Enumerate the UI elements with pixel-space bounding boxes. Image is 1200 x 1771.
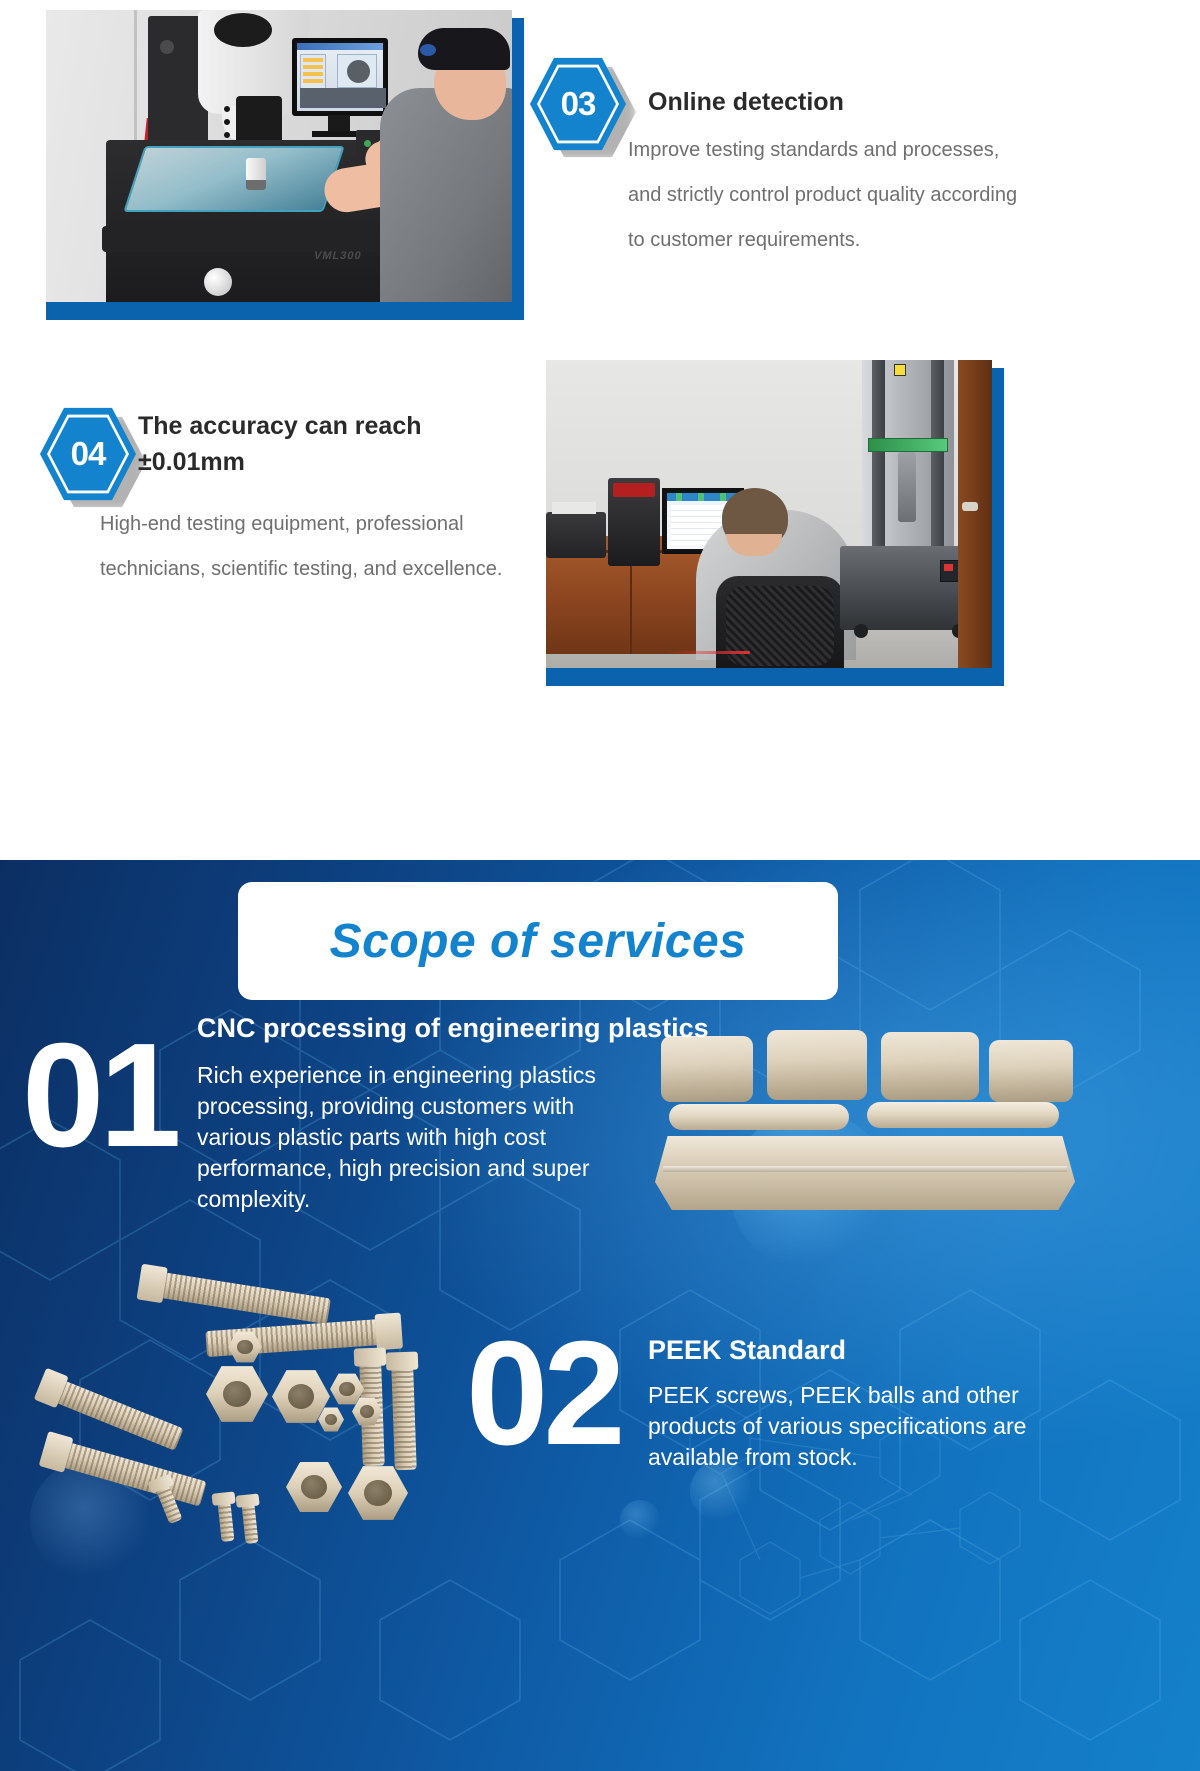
photo-printer [546, 512, 606, 558]
service-body-peek: PEEK screws, PEEK balls and other produc… [648, 1380, 1028, 1473]
bolt-head [212, 1491, 236, 1505]
feature-body-online-detection: Improve testing standards and processes,… [628, 128, 1028, 263]
feature-badge-04: 04 [40, 406, 136, 502]
peek-hex-bolt [59, 1441, 207, 1506]
scope-of-services-title: Scope of services [330, 914, 747, 969]
peek-machined-parts-photo [655, 1030, 1075, 1260]
peek-part-base [655, 1136, 1075, 1210]
photo-monitor-screen [297, 43, 383, 111]
photo-screen-measurement-view [337, 54, 377, 88]
peek-small-screw [217, 1501, 234, 1542]
photo-technician-head [722, 488, 788, 548]
peek-part-segment [989, 1040, 1073, 1102]
photo-scope-lens [214, 13, 272, 47]
tensile-testing-machine-photo [546, 360, 992, 668]
peek-hex-nut [286, 1461, 342, 1513]
feature-title-accuracy: The accuracy can reach ±0.01mm [138, 408, 518, 480]
service-number-02: 02 [466, 1320, 621, 1468]
badge-number-03: 03 [530, 56, 626, 152]
warning-label-icon [894, 364, 906, 376]
photo-office-chair [716, 576, 844, 668]
door-handle-icon [962, 502, 978, 511]
feature-title-online-detection: Online detection [648, 84, 1128, 120]
photo-crt-monitor [292, 38, 388, 116]
peek-hex-nut [206, 1365, 268, 1423]
photo-adjust-knob [204, 268, 232, 296]
bolt-head [375, 1313, 403, 1351]
bolt-head [354, 1347, 387, 1366]
service-title-peek: PEEK Standard [648, 1332, 1168, 1368]
photo-screen-topbar [297, 43, 383, 50]
photo-wooden-door [958, 360, 992, 668]
peek-hex-nut [348, 1465, 408, 1521]
peek-small-screw [241, 1503, 258, 1544]
photo-pc-tower [608, 478, 660, 566]
online-detection-photo-frame: VML300 [46, 18, 524, 320]
photo-tester-crosshead [868, 438, 948, 452]
photo-screen-bottom-panel [300, 88, 386, 108]
top-features-section: VML300 03 Online detection Improve testi… [0, 0, 1200, 860]
photo-tester-caster [854, 624, 868, 638]
peek-stud-bolt [391, 1366, 417, 1471]
service-number-01: 01 [22, 1022, 177, 1170]
peek-part-rib [867, 1102, 1059, 1128]
feature-badge-03: 03 [530, 56, 626, 152]
photo-machine-label: VML300 [313, 250, 363, 262]
bolt-threaded-shank [391, 1366, 417, 1471]
glow-blob [620, 1500, 660, 1540]
photo-operator-cap [418, 28, 510, 70]
peek-hex-bolt [157, 1272, 331, 1325]
feature-body-accuracy: High-end testing equipment, professional… [100, 502, 530, 592]
badge-number-04: 04 [40, 406, 136, 502]
bolt-head [136, 1264, 167, 1304]
service-title-cnc: CNC processing of engineering plastics [197, 1010, 957, 1046]
photo-operator-body [380, 88, 512, 302]
scope-of-services-section: Scope of services 01 CNC processing of e… [0, 860, 1200, 1771]
peek-screws-and-nuts-photo [30, 1265, 450, 1555]
bolt-threaded-shank [157, 1272, 331, 1325]
bolt-threaded-shank [217, 1501, 234, 1542]
tensile-testing-photo-frame [546, 368, 1004, 686]
photo-floor-reflection [664, 651, 750, 654]
photo-glass-stage [123, 146, 344, 212]
peek-part-rib [669, 1104, 849, 1130]
service-body-cnc: Rich experience in engineering plastics … [197, 1060, 629, 1215]
photo-specimen [246, 158, 266, 188]
bolt-threaded-shank [59, 1441, 207, 1506]
photo-tester-grip [898, 452, 916, 522]
scope-of-services-banner: Scope of services [238, 882, 838, 1000]
bolt-head [236, 1493, 260, 1507]
optical-measuring-machine-photo: VML300 [46, 10, 512, 302]
bolt-threaded-shank [241, 1503, 258, 1544]
bolt-head [386, 1351, 419, 1370]
